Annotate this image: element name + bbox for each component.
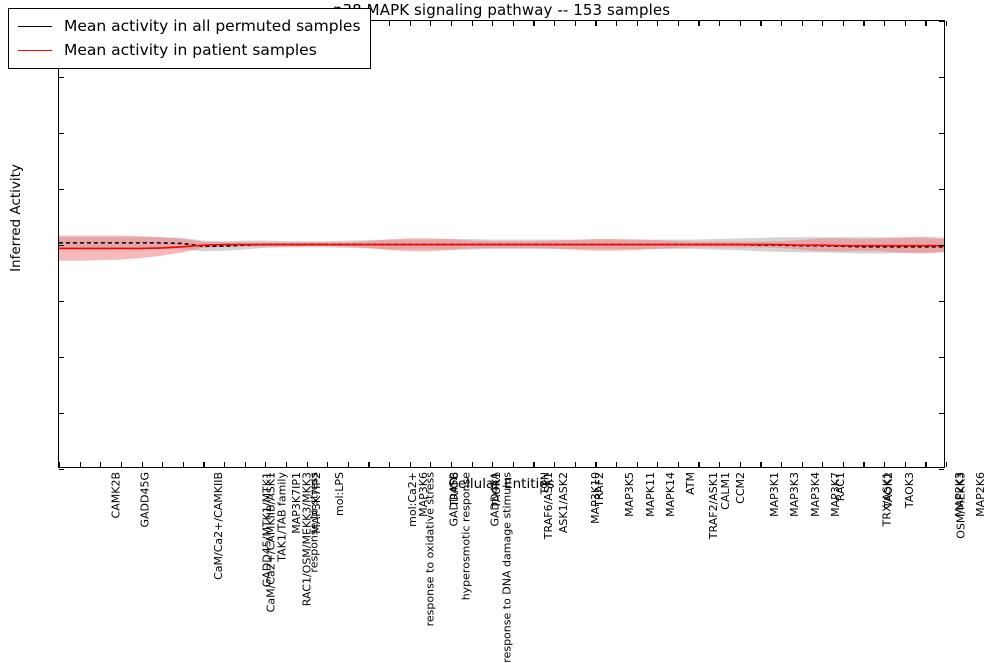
- x-tick-label: mol:LPS: [333, 472, 346, 516]
- legend-line-swatch-black: [18, 26, 52, 27]
- y-tick-mark: [939, 413, 944, 414]
- x-tick-mark: [822, 21, 823, 26]
- chart-legend: Mean activity in all permuted samples Me…: [8, 8, 371, 69]
- y-tick-mark: [59, 245, 64, 246]
- x-tick-mark: [513, 21, 514, 26]
- x-tick-mark: [946, 21, 947, 26]
- x-tick-label: ASK1/ASK2: [557, 472, 570, 533]
- x-tick-mark: [616, 462, 617, 467]
- x-tick-mark: [451, 462, 452, 467]
- x-tick-mark: [430, 462, 431, 467]
- x-tick-mark: [575, 21, 576, 26]
- x-tick-label: TAOK3: [903, 472, 916, 508]
- figure: p38 MAPK signaling pathway -- 153 sample…: [0, 0, 1000, 500]
- x-tick-mark: [884, 21, 885, 26]
- x-tick-mark: [760, 462, 761, 467]
- x-tick-mark: [162, 462, 163, 467]
- x-tick-label: MAP3K7IP2: [310, 472, 323, 534]
- x-tick-mark: [245, 462, 246, 467]
- x-tick-label: GADD45/MTK1/MTK1: [260, 472, 273, 587]
- x-tick-mark: [224, 462, 225, 467]
- x-tick-mark: [121, 462, 122, 467]
- x-tick-mark: [430, 21, 431, 26]
- x-tick-mark: [637, 462, 638, 467]
- x-tick-mark: [368, 462, 369, 467]
- y-tick-mark: [939, 189, 944, 190]
- x-tick-label: MAP2K3: [953, 472, 966, 517]
- x-tick-label: MAP2K6: [974, 472, 987, 517]
- x-tick-mark: [781, 21, 782, 26]
- x-tick-label: MAP3K6: [417, 472, 430, 517]
- x-tick-label: MAPK14: [664, 472, 677, 517]
- x-tick-mark: [740, 462, 741, 467]
- x-tick-mark: [472, 462, 473, 467]
- x-tick-mark: [203, 462, 204, 467]
- legend-item-patient: Mean activity in patient samples: [18, 38, 361, 62]
- y-tick-mark: [59, 413, 64, 414]
- x-tick-mark: [265, 462, 266, 467]
- x-tick-label: CALM1: [719, 472, 732, 510]
- x-tick-mark: [533, 462, 534, 467]
- x-tick-label: TRAF2: [592, 472, 605, 507]
- x-tick-mark: [698, 462, 699, 467]
- x-tick-mark: [451, 21, 452, 26]
- y-tick-mark: [939, 21, 944, 22]
- x-tick-mark: [286, 462, 287, 467]
- x-tick-mark: [925, 462, 926, 467]
- x-tick-mark: [884, 462, 885, 467]
- x-tick-mark: [183, 462, 184, 467]
- x-tick-mark: [575, 462, 576, 467]
- x-tick-mark: [554, 21, 555, 26]
- y-tick-mark: [59, 189, 64, 190]
- x-tick-mark: [740, 21, 741, 26]
- y-tick-mark: [939, 77, 944, 78]
- x-tick-mark: [80, 462, 81, 467]
- y-tick-mark: [59, 301, 64, 302]
- plot-area: −4−3−2−101234: [58, 20, 945, 468]
- x-tick-mark: [410, 462, 411, 467]
- x-tick-label: MAP3K4: [809, 472, 822, 517]
- y-tick-mark: [939, 469, 944, 470]
- y-tick-mark: [59, 469, 64, 470]
- x-tick-label: hyperosmotic response: [459, 472, 472, 600]
- x-tick-mark: [843, 462, 844, 467]
- x-tick-mark: [307, 462, 308, 467]
- x-tick-mark: [410, 21, 411, 26]
- x-tick-label: ATM: [684, 472, 697, 495]
- x-tick-label: MAP3K7IP1: [289, 472, 302, 534]
- x-tick-mark: [925, 21, 926, 26]
- x-tick-mark: [802, 462, 803, 467]
- x-tick-mark: [905, 462, 906, 467]
- legend-line-swatch-red: [18, 50, 52, 51]
- x-tick-mark: [142, 462, 143, 467]
- x-tick-mark: [533, 21, 534, 26]
- x-tick-mark: [657, 462, 658, 467]
- x-tick-label: MAP3K5: [623, 472, 636, 517]
- x-tick-label: MAPK11: [644, 472, 657, 517]
- x-tick-mark: [863, 21, 864, 26]
- x-tick-mark: [100, 462, 101, 467]
- x-tick-label: MAP3K3: [788, 472, 801, 517]
- x-tick-mark: [492, 21, 493, 26]
- x-tick-mark: [59, 462, 60, 467]
- x-tick-mark: [905, 21, 906, 26]
- x-tick-mark: [595, 462, 596, 467]
- x-tick-mark: [698, 21, 699, 26]
- x-tick-mark: [389, 21, 390, 26]
- x-tick-label: CAMK2B: [109, 472, 122, 518]
- y-tick-mark: [939, 357, 944, 358]
- x-tick-mark: [595, 21, 596, 26]
- x-tick-label: TAK1/TAB family: [276, 472, 289, 562]
- y-tick-mark: [59, 357, 64, 358]
- x-tick-mark: [802, 21, 803, 26]
- x-tick-mark: [513, 462, 514, 467]
- y-tick-mark: [939, 133, 944, 134]
- x-tick-label: MAP3K1: [767, 472, 780, 517]
- x-tick-mark: [616, 21, 617, 26]
- x-tick-mark: [781, 462, 782, 467]
- legend-item-permuted: Mean activity in all permuted samples: [18, 14, 361, 38]
- x-tick-label: RAC1: [834, 472, 847, 501]
- legend-label-permuted: Mean activity in all permuted samples: [64, 17, 361, 35]
- x-tick-label: TAOK1: [491, 472, 504, 508]
- x-tick-mark: [678, 462, 679, 467]
- x-tick-mark: [327, 462, 328, 467]
- x-tick-mark: [719, 462, 720, 467]
- legend-label-patient: Mean activity in patient samples: [64, 41, 317, 59]
- x-tick-mark: [863, 462, 864, 467]
- y-tick-mark: [939, 245, 944, 246]
- x-tick-label: TAOK2: [882, 472, 895, 508]
- x-tick-label: CCM2: [734, 472, 747, 504]
- y-tick-mark: [939, 301, 944, 302]
- x-tick-label: CaM/Ca2+/CAMKIIB: [212, 472, 225, 580]
- x-tick-mark: [348, 462, 349, 467]
- x-tick-mark: [760, 21, 761, 26]
- x-tick-mark: [492, 462, 493, 467]
- x-tick-mark: [678, 21, 679, 26]
- x-tick-label: TRAF6: [448, 472, 461, 507]
- x-tick-mark: [472, 21, 473, 26]
- x-tick-label: TXN: [539, 472, 552, 494]
- x-tick-mark: [719, 21, 720, 26]
- x-tick-mark: [389, 462, 390, 467]
- x-tick-mark: [637, 21, 638, 26]
- y-axis-label: Inferred Activity: [8, 8, 24, 428]
- x-tick-mark: [554, 462, 555, 467]
- y-tick-mark: [59, 133, 64, 134]
- x-tick-mark: [822, 462, 823, 467]
- x-tick-mark: [843, 21, 844, 26]
- plot-canvas: [59, 21, 944, 467]
- x-tick-mark: [946, 462, 947, 467]
- x-tick-mark: [657, 21, 658, 26]
- y-tick-mark: [59, 77, 64, 78]
